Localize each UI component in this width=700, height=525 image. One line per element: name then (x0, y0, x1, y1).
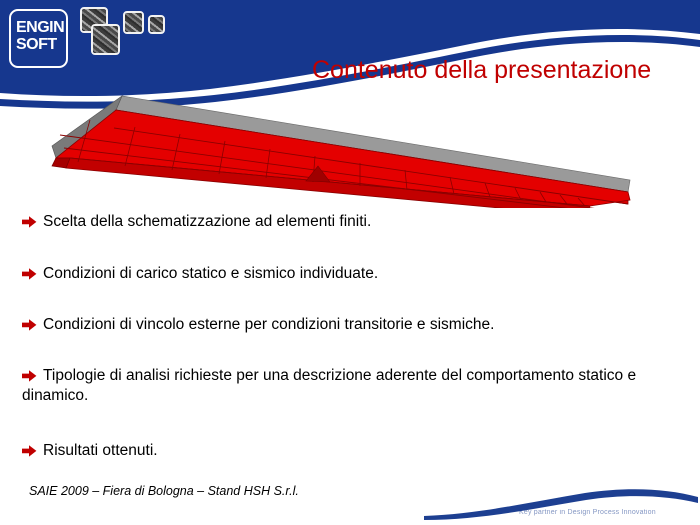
fem-model-figure (30, 88, 650, 208)
list-item-label: Tipologie di analisi richieste per una d… (22, 366, 682, 406)
red-arrow-bullet-icon (22, 318, 37, 332)
slide-title: Contenuto della presentazione (312, 55, 694, 85)
red-arrow-bullet-icon (22, 444, 37, 458)
photo-thumbnail-2 (91, 24, 120, 55)
red-arrow-bullet-icon (22, 267, 37, 281)
photo-thumbnail-3 (123, 11, 144, 34)
footer-swoosh-graphic (420, 484, 700, 525)
red-arrow-bullet-icon (22, 369, 37, 383)
photo-thumbnail-4 (148, 15, 165, 34)
list-item: Scelta della schematizzazione ad element… (22, 212, 682, 232)
photo-thumbnail-image (93, 26, 118, 53)
list-item: Tipologie di analisi richieste per una d… (22, 366, 682, 406)
list-item-label: Scelta della schematizzazione ad element… (22, 212, 682, 232)
bullet-list: Scelta della schematizzazione ad element… (22, 212, 682, 461)
enginsoft-logo: ENGIN SOFT (9, 9, 68, 68)
presentation-slide: ENGIN SOFT Contenuto della presentazione (0, 0, 700, 525)
footer-event-note: SAIE 2009 – Fiera di Bologna – Stand HSH… (29, 484, 299, 498)
red-arrow-bullet-icon (22, 215, 37, 229)
photo-thumbnail-image (150, 17, 163, 32)
list-item-label: Risultati ottenuti. (22, 441, 682, 461)
list-item: Condizioni di vincolo esterne per condiz… (22, 315, 682, 335)
list-item: Condizioni di carico statico e sismico i… (22, 264, 682, 284)
footer-tagline: Key partner in Design Process Innovation (519, 509, 656, 516)
list-item-label: Condizioni di carico statico e sismico i… (22, 264, 682, 284)
photo-thumbnail-image (125, 13, 142, 32)
list-item-label: Condizioni di vincolo esterne per condiz… (22, 315, 682, 335)
enginsoft-logo-text: ENGIN SOFT (16, 19, 68, 53)
list-item: Risultati ottenuti. (22, 441, 682, 461)
